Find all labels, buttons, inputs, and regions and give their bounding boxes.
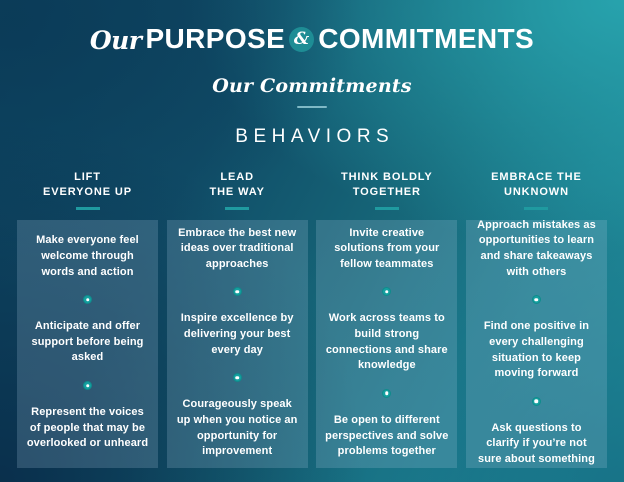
behavior-item: Be open to different perspectives and so… [322, 413, 451, 460]
dot-separator-icon [382, 287, 391, 296]
column-heading: LEAD THE WAY [209, 170, 264, 200]
behaviors-panel: Embrace the best new ideas over traditio… [167, 220, 308, 468]
column-heading: EMBRACE THE UNKNOWN [491, 170, 582, 200]
page-title: OurPURPOSE&COMMITMENTS [0, 0, 624, 53]
dot-separator-icon [532, 295, 541, 304]
section-label: BEHAVIORS [0, 108, 624, 148]
dot-separator-icon [233, 373, 242, 382]
behavior-item: Ask questions to clarify if you’re not s… [472, 421, 601, 468]
column-embrace-the-unknown: EMBRACE THE UNKNOWN Approach mistakes as… [466, 170, 607, 468]
column-heading: LIFT EVERYONE UP [43, 170, 132, 200]
behavior-item: Inspire excellence by delivering your be… [173, 311, 302, 358]
dot-separator-icon [83, 381, 92, 390]
slide-header: OurPURPOSE&COMMITMENTS Our Commitments B… [0, 0, 624, 148]
dot-separator-icon [83, 295, 92, 304]
behaviors-panel: Make everyone feel welcome through words… [17, 220, 158, 468]
title-script-word: Our [90, 26, 142, 55]
column-think-boldly-together: THINK BOLDLY TOGETHER Invite creative so… [316, 170, 457, 468]
behavior-item: Find one positive in every challenging s… [472, 319, 601, 381]
dot-separator-icon [382, 389, 391, 398]
subtitle: Our Commitments [0, 53, 624, 97]
ampersand-badge: & [289, 27, 314, 52]
column-heading-rule [375, 207, 399, 210]
column-heading-rule [524, 207, 548, 210]
purpose-commitments-slide: OurPURPOSE&COMMITMENTS Our Commitments B… [0, 0, 624, 482]
behavior-item: Make everyone feel welcome through words… [23, 233, 152, 280]
column-lead-the-way: LEAD THE WAY Embrace the best new ideas … [167, 170, 308, 468]
dot-separator-icon [233, 287, 242, 296]
column-heading-rule [76, 207, 100, 210]
column-lift-everyone-up: LIFT EVERYONE UP Make everyone feel welc… [17, 170, 158, 468]
behaviors-panel: Approach mistakes as opportunities to le… [466, 220, 607, 468]
behavior-item: Invite creative solutions from your fell… [322, 226, 451, 273]
dot-separator-icon [532, 397, 541, 406]
behaviors-columns: LIFT EVERYONE UP Make everyone feel welc… [0, 170, 624, 468]
behavior-item: Work across teams to build strong connec… [322, 311, 451, 373]
behavior-item: Approach mistakes as opportunities to le… [472, 218, 601, 280]
behaviors-panel: Invite creative solutions from your fell… [316, 220, 457, 468]
title-purpose: PURPOSE [145, 23, 285, 54]
behavior-item: Courageously speak up when you notice an… [173, 397, 302, 459]
column-heading: THINK BOLDLY TOGETHER [341, 170, 433, 200]
behavior-item: Represent the voices of people that may … [23, 405, 152, 452]
behavior-item: Embrace the best new ideas over traditio… [173, 226, 302, 273]
behavior-item: Anticipate and offer support before bein… [23, 319, 152, 366]
column-heading-rule [225, 207, 249, 210]
title-commitments: COMMITMENTS [318, 23, 534, 54]
